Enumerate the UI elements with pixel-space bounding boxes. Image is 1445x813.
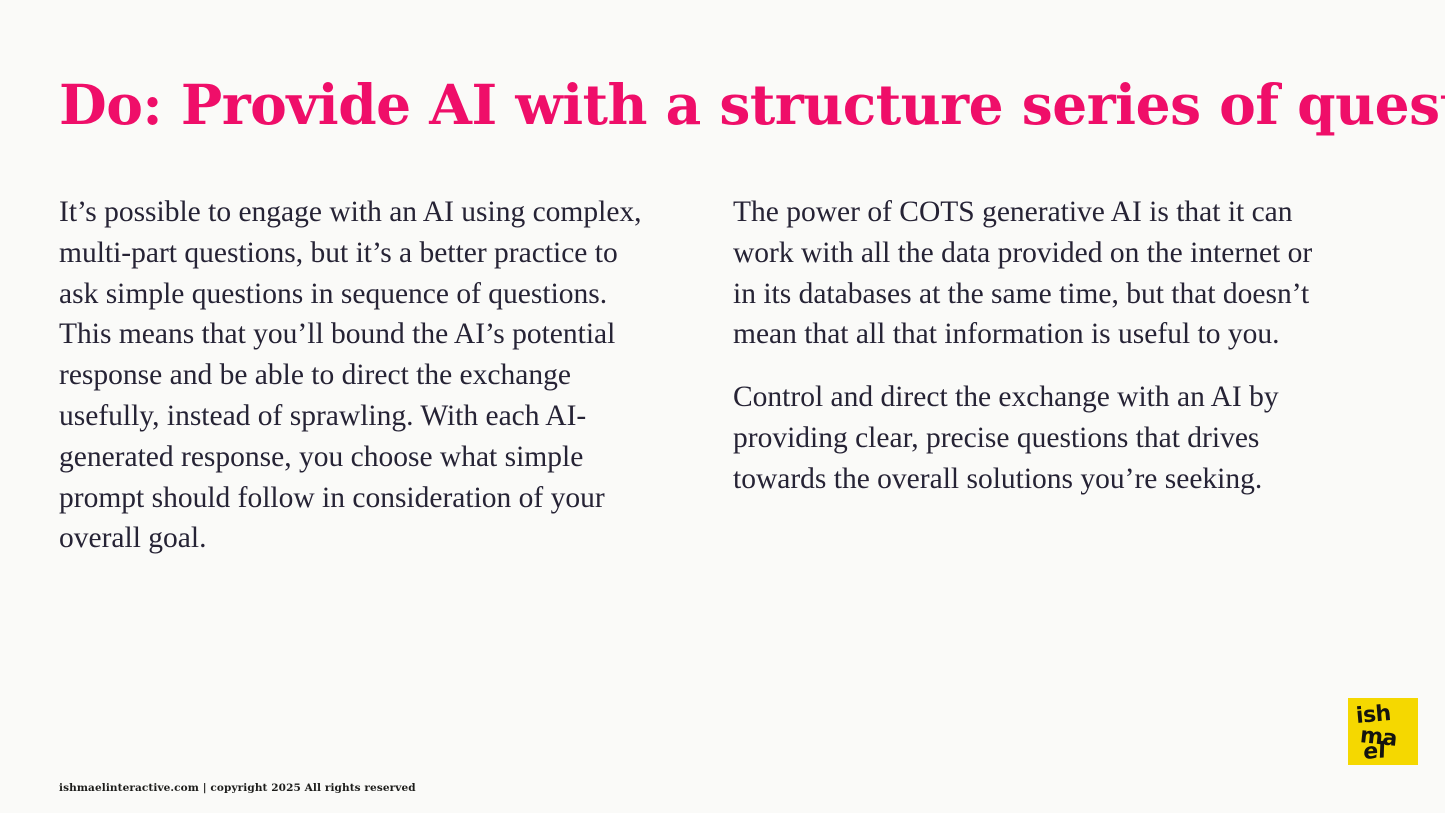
body-paragraph: Control and direct the exchange with an … — [733, 377, 1324, 499]
logo-text-line-3: el — [1363, 740, 1386, 764]
body-paragraph: It’s possible to engage with an AI using… — [59, 192, 650, 559]
body-column-right: The power of COTS generative AI is that … — [733, 192, 1324, 559]
page-title: Do: Provide AI with a structure series o… — [59, 74, 1379, 136]
ishmael-logo: ish ma el — [1348, 698, 1418, 765]
body-columns: It’s possible to engage with an AI using… — [59, 192, 1324, 559]
body-column-left: It’s possible to engage with an AI using… — [59, 192, 650, 559]
slide-canvas: Do: Provide AI with a structure series o… — [0, 0, 1445, 813]
body-paragraph: The power of COTS generative AI is that … — [733, 192, 1324, 355]
footer-copyright: ishmaelinteractive.com | copyright 2025 … — [59, 782, 416, 794]
